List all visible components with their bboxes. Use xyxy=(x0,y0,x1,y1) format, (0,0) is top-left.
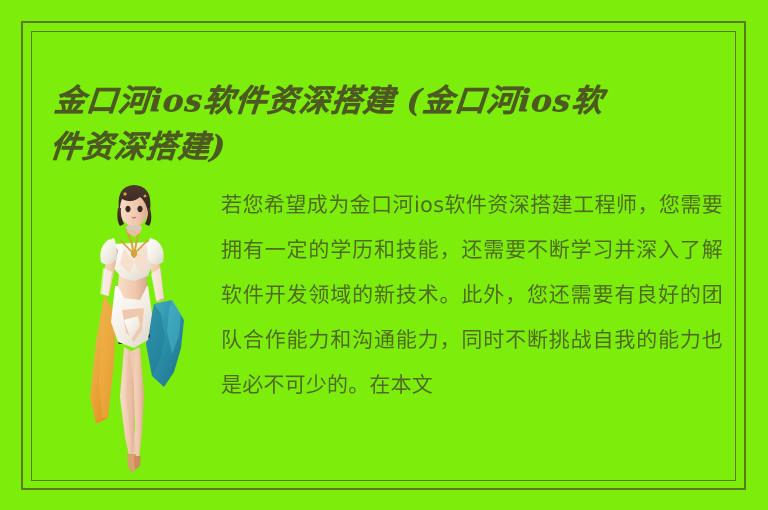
article-body-text: 若您希望成为金口河ios软件资深搭建工程师，您需要拥有一定的学历和技能，还需要不… xyxy=(221,183,723,408)
page-title-line-2: 件资深搭建) xyxy=(48,129,227,165)
anime-woman-illustration xyxy=(68,182,198,474)
article-card: 金口河ios软件资深搭建 (金口河ios软 件资深搭建) xyxy=(0,0,768,510)
page-title-line-1: 金口河ios软件资深搭建 (金口河ios软 xyxy=(52,83,604,119)
page-title: 金口河ios软件资深搭建 (金口河ios软 件资深搭建) xyxy=(48,78,716,170)
